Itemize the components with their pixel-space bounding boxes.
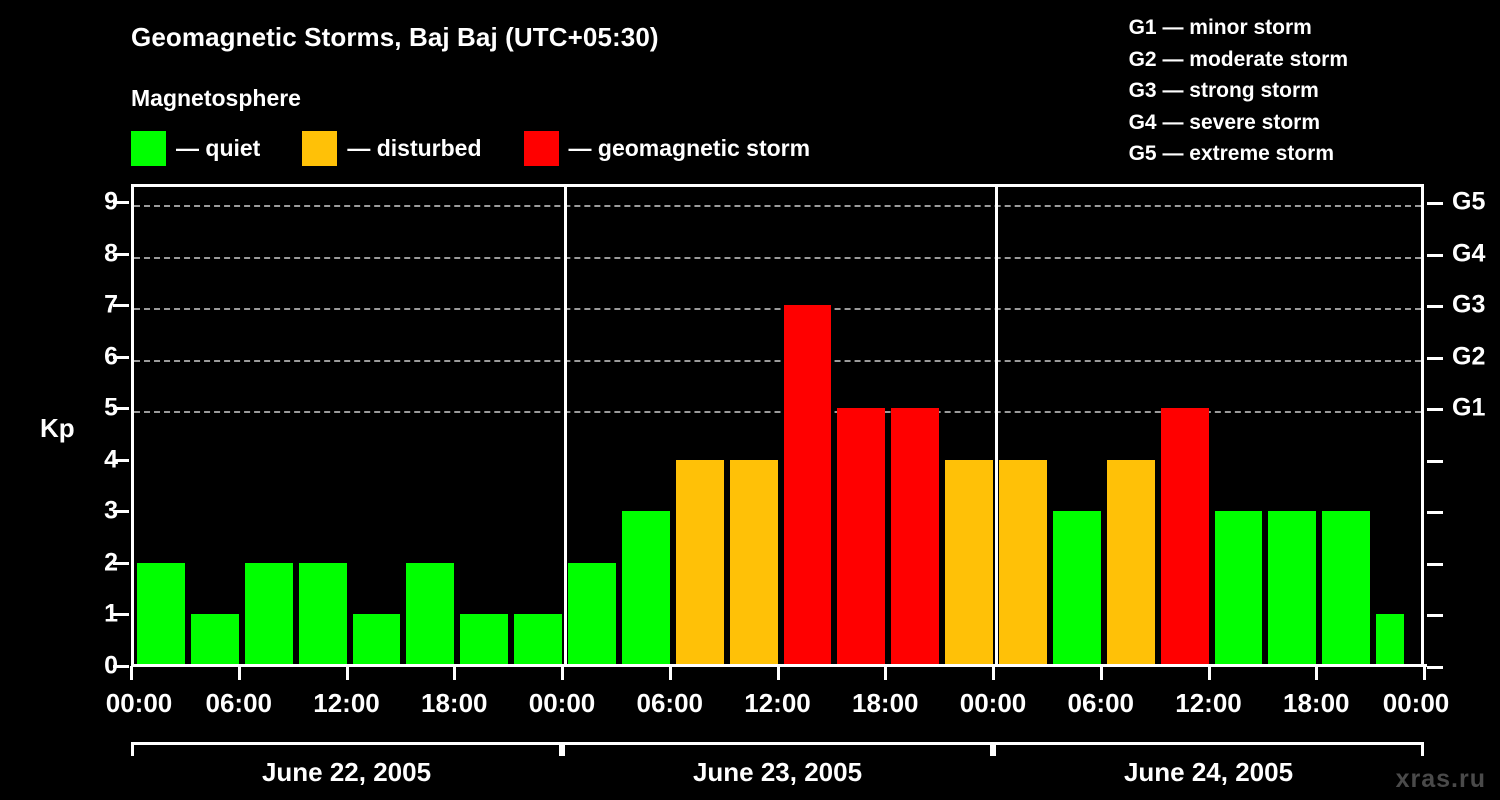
y-axis-tick-label: 7 — [78, 291, 118, 320]
x-axis-tick — [1100, 666, 1103, 680]
g-axis-tick-label: G4 — [1452, 239, 1485, 268]
x-axis-tick — [1315, 666, 1318, 680]
x-axis-tick-label: 18:00 — [852, 688, 919, 719]
x-axis-tick-label: 00:00 — [960, 688, 1027, 719]
g-scale-legend: G1 — minor storm G2 — moderate storm G3 … — [1129, 12, 1348, 170]
x-axis-tick — [992, 666, 995, 680]
watermark: xras.ru — [1396, 765, 1486, 794]
g-scale-row-g2: G2 — moderate storm — [1129, 44, 1348, 76]
x-axis-tick-label: 18:00 — [421, 688, 488, 719]
x-axis-tick — [669, 666, 672, 680]
y-axis-tick-label: 3 — [78, 497, 118, 526]
bar[interactable] — [514, 614, 562, 666]
g-axis-tick — [1427, 202, 1443, 205]
bar[interactable] — [1268, 511, 1316, 666]
x-axis-tick-label: 00:00 — [1383, 688, 1450, 719]
legend: — quiet — disturbed — geomagnetic storm — [131, 131, 810, 166]
bar[interactable] — [1322, 511, 1370, 666]
g-axis-tick — [1427, 408, 1443, 411]
x-axis-tick — [453, 666, 456, 680]
bar[interactable] — [1053, 511, 1101, 666]
gridline — [134, 360, 1421, 362]
g-axis-tick-label: G2 — [1452, 342, 1485, 371]
x-axis-tick — [1208, 666, 1211, 680]
day-bracket — [131, 742, 562, 756]
g-axis-minor-tick — [1427, 614, 1443, 617]
g-axis-tick-label: G1 — [1452, 394, 1485, 423]
gridline — [134, 308, 1421, 310]
g-axis-minor-tick — [1427, 460, 1443, 463]
legend-item-storm: — geomagnetic storm — [524, 131, 811, 166]
g-axis-minor-tick — [1427, 666, 1443, 669]
y-axis-tick-label: 6 — [78, 342, 118, 371]
chart-plot-area — [131, 184, 1424, 666]
gridline — [134, 205, 1421, 207]
y-axis-tick-label: 5 — [78, 394, 118, 423]
legend-item-disturbed: — disturbed — [302, 131, 523, 166]
day-separator — [995, 187, 998, 666]
gridline — [134, 411, 1421, 413]
day-label: June 22, 2005 — [262, 757, 431, 788]
x-axis-tick — [346, 666, 349, 680]
bar[interactable] — [245, 563, 293, 666]
bar[interactable] — [891, 408, 939, 666]
bar[interactable] — [353, 614, 401, 666]
x-axis-tick — [561, 666, 564, 680]
x-axis-tick-label: 18:00 — [1283, 688, 1350, 719]
x-axis-tick — [130, 666, 133, 680]
x-axis-tick-label: 06:00 — [206, 688, 273, 719]
bar[interactable] — [1376, 614, 1404, 666]
g-scale-row-g1: G1 — minor storm — [1129, 12, 1348, 44]
bar[interactable] — [406, 563, 454, 666]
x-axis-tick-label: 06:00 — [637, 688, 704, 719]
bar[interactable] — [1107, 460, 1155, 666]
bar[interactable] — [460, 614, 508, 666]
x-axis-tick — [777, 666, 780, 680]
g-axis-tick — [1427, 357, 1443, 360]
disturbed-swatch-icon — [302, 131, 337, 166]
bar[interactable] — [1215, 511, 1263, 666]
bar[interactable] — [730, 460, 778, 666]
y-axis-tick-label: 2 — [78, 548, 118, 577]
bar[interactable] — [676, 460, 724, 666]
day-label: June 23, 2005 — [693, 757, 862, 788]
legend-label-disturbed: — disturbed — [347, 135, 481, 162]
legend-item-quiet: — quiet — [131, 131, 302, 166]
bar[interactable] — [299, 563, 347, 666]
bar[interactable] — [191, 614, 239, 666]
g-axis-tick-label: G3 — [1452, 291, 1485, 320]
day-bracket — [562, 742, 993, 756]
bar[interactable] — [622, 511, 670, 666]
chart-subtitle: Magnetosphere — [131, 85, 301, 112]
quiet-swatch-icon — [131, 131, 166, 166]
bar[interactable] — [999, 460, 1047, 666]
legend-label-storm: — geomagnetic storm — [569, 135, 811, 162]
y-axis-tick-label: 1 — [78, 600, 118, 629]
g-axis-tick — [1427, 254, 1443, 257]
gridline — [134, 257, 1421, 259]
bar[interactable] — [945, 460, 993, 666]
day-separator — [564, 187, 567, 666]
g-scale-row-g3: G3 — strong storm — [1129, 75, 1348, 107]
x-axis-tick-label: 00:00 — [106, 688, 173, 719]
y-axis-label: Kp — [40, 413, 75, 444]
day-bracket — [993, 742, 1424, 756]
g-scale-row-g5: G5 — extreme storm — [1129, 138, 1348, 170]
x-axis-tick — [238, 666, 241, 680]
g-axis-tick — [1427, 305, 1443, 308]
bar[interactable] — [784, 305, 832, 666]
y-axis-tick-label: 0 — [78, 652, 118, 681]
x-axis-tick-label: 00:00 — [529, 688, 596, 719]
x-axis-tick — [1423, 666, 1426, 680]
g-axis-minor-tick — [1427, 511, 1443, 514]
x-axis-tick — [884, 666, 887, 680]
x-axis-tick-label: 06:00 — [1068, 688, 1135, 719]
g-axis-tick-label: G5 — [1452, 188, 1485, 217]
day-label: June 24, 2005 — [1124, 757, 1293, 788]
bar[interactable] — [137, 563, 185, 666]
bar[interactable] — [837, 408, 885, 666]
x-axis-tick-label: 12:00 — [313, 688, 380, 719]
g-scale-row-g4: G4 — severe storm — [1129, 107, 1348, 139]
bar[interactable] — [568, 563, 616, 666]
y-axis-tick-label: 9 — [78, 188, 118, 217]
y-axis-tick-label: 4 — [78, 445, 118, 474]
g-axis-minor-tick — [1427, 563, 1443, 566]
legend-label-quiet: — quiet — [176, 135, 260, 162]
x-axis-tick-label: 12:00 — [1175, 688, 1242, 719]
x-axis-tick-label: 12:00 — [744, 688, 811, 719]
page-title: Geomagnetic Storms, Baj Baj (UTC+05:30) — [131, 22, 659, 53]
storm-swatch-icon — [524, 131, 559, 166]
y-axis-tick-label: 8 — [78, 239, 118, 268]
bar[interactable] — [1161, 408, 1209, 666]
